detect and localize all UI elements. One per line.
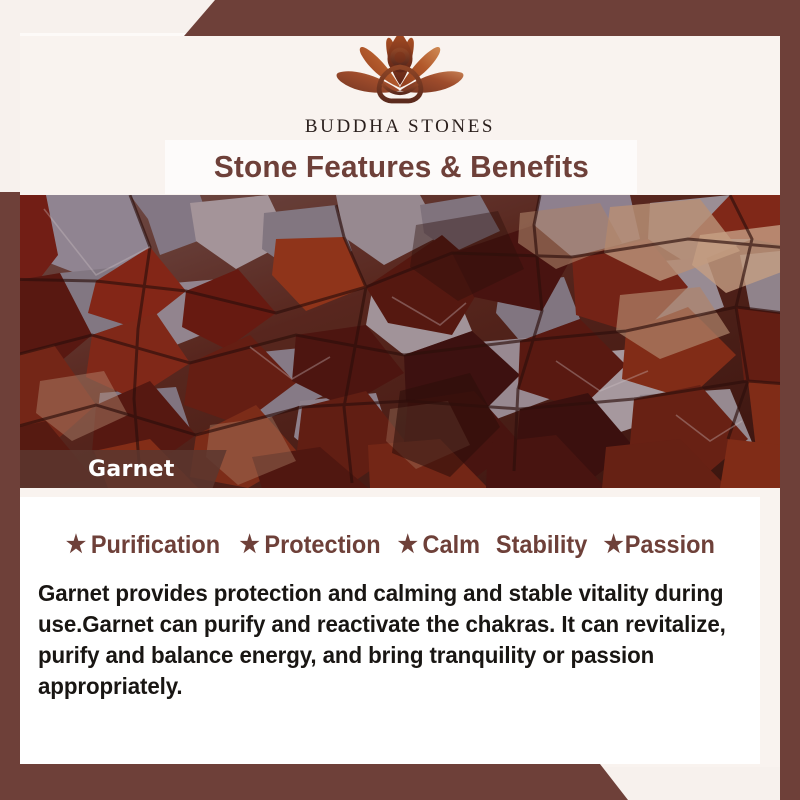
title-band: Stone Features & Benefits	[165, 140, 637, 194]
benefit-stability: ★ Stability	[496, 531, 587, 560]
benefit-label: Purification	[91, 531, 220, 560]
benefit-label: Stability	[496, 531, 587, 560]
lotus-meditation-figure-icon	[316, 24, 484, 110]
frame-band-bottom	[0, 764, 800, 800]
star-icon: ★	[604, 533, 624, 557]
benefit-calm: ★ Calm	[398, 531, 480, 560]
star-icon: ★	[398, 533, 418, 557]
poster-root: BUDDHA STONES Stone Features & Benefits	[0, 0, 800, 800]
photo-caption-banner: Garnet	[20, 450, 227, 488]
benefit-label: Protection	[265, 531, 381, 560]
benefits-row: ★ Purification ★ Protection ★ Calm ★ Sta…	[20, 526, 760, 564]
frame-band-right	[780, 0, 800, 800]
benefit-passion: ★ Passion	[604, 531, 715, 560]
benefit-purification: ★ Purification	[66, 531, 220, 560]
star-icon: ★	[66, 533, 86, 557]
brand-lockup: BUDDHA STONES	[0, 24, 800, 138]
description-text: Garnet provides protection and calming a…	[38, 578, 733, 702]
stone-name: Garnet	[88, 457, 175, 482]
star-icon: ★	[240, 533, 260, 557]
benefit-label: Passion	[625, 531, 715, 560]
benefit-label: Calm	[423, 531, 480, 560]
garnet-photo: Garnet	[0, 195, 800, 488]
page-title: Stone Features & Benefits	[213, 149, 588, 185]
benefit-protection: ★ Protection	[240, 531, 381, 560]
frame-band-left	[0, 192, 20, 800]
brand-name: BUDDHA STONES	[0, 116, 800, 138]
